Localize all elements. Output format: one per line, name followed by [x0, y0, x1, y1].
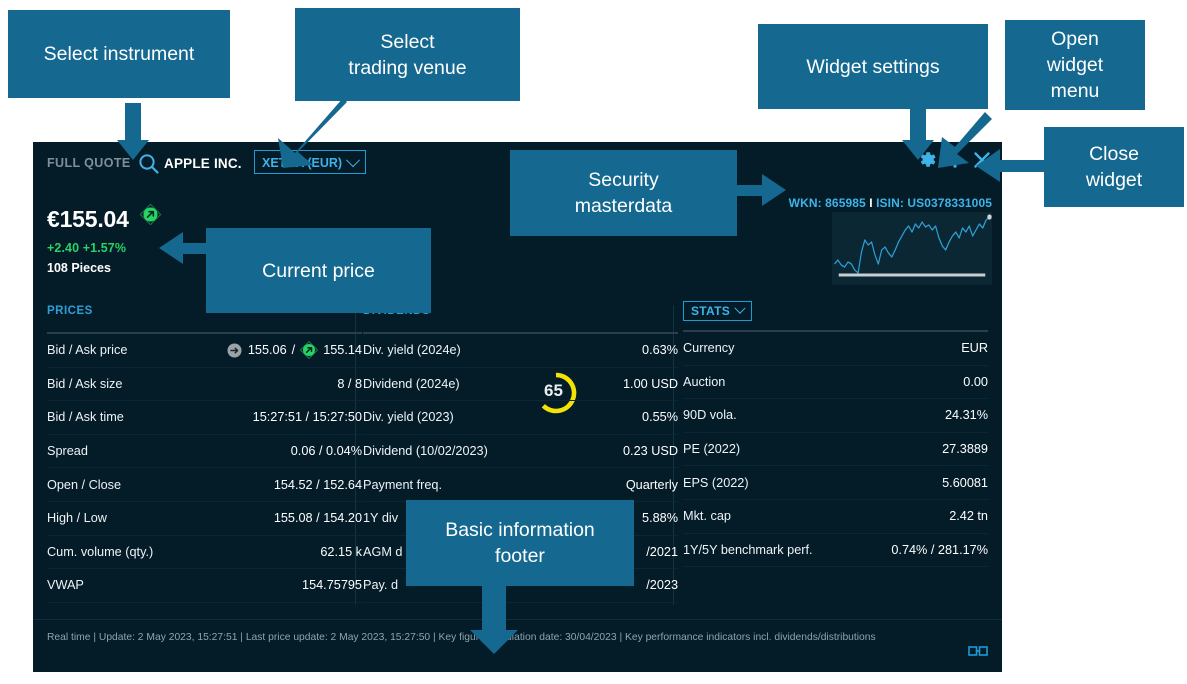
callout-select-instrument: Select instrument — [8, 10, 230, 98]
callout-widget-settings-label: Widget settings — [806, 54, 939, 80]
callout-security-masterdata-label: Security masterdata — [575, 167, 673, 219]
callout-widget-settings: Widget settings — [758, 24, 988, 109]
callout-close-widget-label: Close widget — [1086, 141, 1142, 193]
callout-select-venue: Select trading venue — [295, 8, 520, 101]
callout-select-instrument-label: Select instrument — [44, 41, 195, 67]
callout-open-menu: Open widget menu — [1005, 20, 1145, 110]
callout-current-price: Current price — [206, 228, 431, 313]
callout-close-widget: Close widget — [1044, 127, 1184, 207]
callout-select-venue-label: Select trading venue — [348, 29, 466, 81]
callout-basic-footer: Basic information footer — [406, 500, 634, 586]
callout-security-masterdata: Security masterdata — [510, 150, 737, 236]
callout-basic-footer-label: Basic information footer — [445, 517, 595, 569]
callout-current-price-label: Current price — [262, 258, 375, 284]
callout-open-menu-label: Open widget menu — [1047, 26, 1103, 104]
